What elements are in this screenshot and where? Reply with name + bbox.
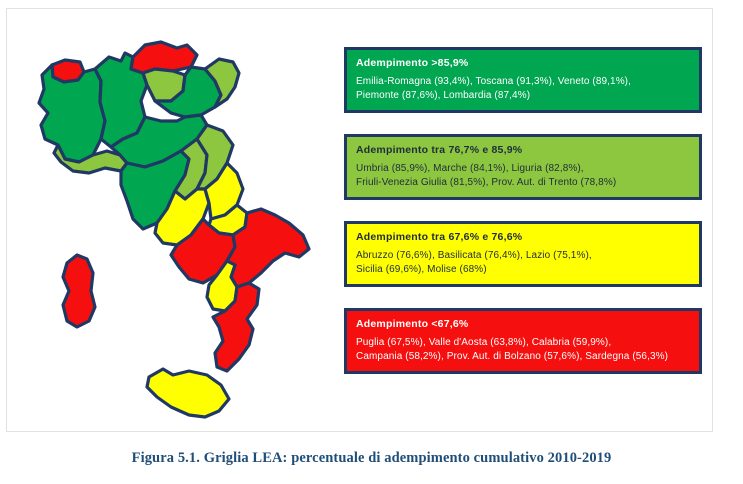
legend-title: Adempimento <67,6%: [356, 317, 690, 332]
legend-regions-line: Campania (58,2%), Prov. Aut. di Bolzano …: [356, 350, 690, 364]
italy-choropleth-map: [21, 29, 331, 419]
legend-item-above-85-9: Adempimento >85,9% Emilia-Romagna (93,4%…: [344, 47, 702, 113]
legend-regions: Abruzzo (76,6%), Basilicata (76,4%), Laz…: [356, 249, 690, 276]
legend-title: Adempimento >85,9%: [356, 56, 690, 71]
legend-item-below-67-6: Adempimento <67,6% Puglia (67,5%), Valle…: [344, 308, 702, 374]
figure-caption: Figura 5.1. Griglia LEA: percentuale di …: [0, 450, 743, 467]
legend-title: Adempimento tra 67,6% e 76,6%: [356, 230, 690, 245]
legend: Adempimento >85,9% Emilia-Romagna (93,4%…: [344, 47, 702, 374]
legend-item-76-7-to-85-9: Adempimento tra 76,7% e 85,9% Umbria (85…: [344, 134, 702, 200]
legend-regions-line: Emilia-Romagna (93,4%), Toscana (91,3%),…: [356, 75, 690, 89]
legend-item-67-6-to-76-6: Adempimento tra 67,6% e 76,6% Abruzzo (7…: [344, 221, 702, 287]
legend-regions-line: Friuli-Venezia Giulia (81,5%), Prov. Aut…: [356, 176, 690, 190]
legend-regions-line: Umbria (85,9%), Marche (84,1%), Liguria …: [356, 162, 690, 176]
region-sicilia: [147, 369, 229, 417]
legend-title: Adempimento tra 76,7% e 85,9%: [356, 143, 690, 158]
map-svg: [21, 29, 331, 419]
legend-regions-line: Sicilia (69,6%), Molise (68%): [356, 263, 690, 277]
region-sardegna: [63, 255, 95, 327]
figure-frame: Adempimento >85,9% Emilia-Romagna (93,4%…: [6, 8, 713, 432]
figure-page: Adempimento >85,9% Emilia-Romagna (93,4%…: [0, 0, 743, 484]
legend-regions: Umbria (85,9%), Marche (84,1%), Liguria …: [356, 162, 690, 189]
region-piemonte: [39, 65, 105, 162]
legend-regions: Emilia-Romagna (93,4%), Toscana (91,3%),…: [356, 75, 690, 102]
legend-regions: Puglia (67,5%), Valle d'Aosta (63,8%), C…: [356, 336, 690, 363]
region-prov-aut-bolzano: [131, 42, 197, 73]
legend-regions-line: Piemonte (87,6%), Lombardia (87,4%): [356, 89, 690, 103]
legend-regions-line: Abruzzo (76,6%), Basilicata (76,4%), Laz…: [356, 249, 690, 263]
legend-regions-line: Puglia (67,5%), Valle d'Aosta (63,8%), C…: [356, 336, 690, 350]
